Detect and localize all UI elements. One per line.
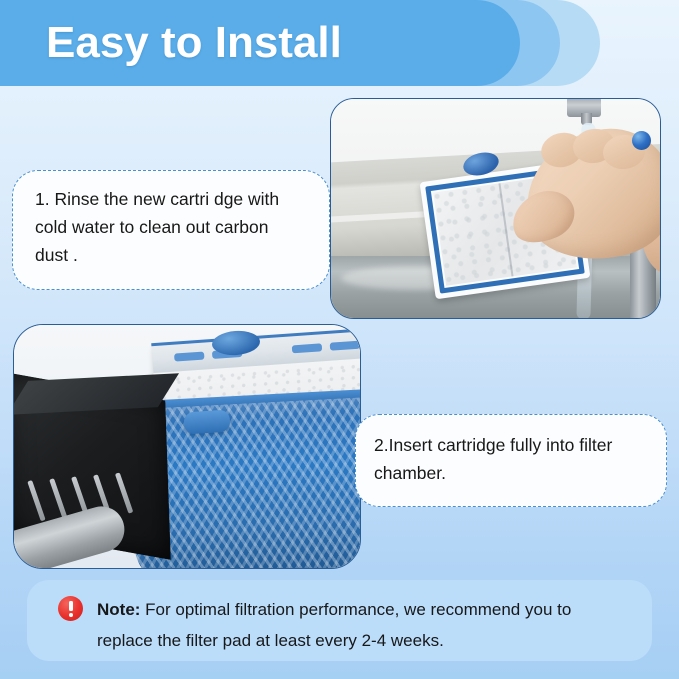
rail-slot-3 [292, 343, 322, 353]
blue-accent-dot-icon [632, 131, 651, 150]
step-1-text: 1. Rinse the new cartri dge with cold wa… [35, 185, 319, 269]
exclamation-circle-icon [58, 596, 83, 621]
photo-rinse-cartridge [330, 98, 661, 319]
step-1-callout: 1. Rinse the new cartri dge with cold wa… [12, 170, 330, 290]
note-bar: Note: For optimal filtration performance… [27, 580, 652, 661]
comb-tooth-2 [49, 478, 67, 519]
page-title: Easy to Install [46, 10, 342, 76]
step-2-text: 2.Insert cartridge fully into filter cha… [374, 431, 652, 487]
step-2-callout: 2.Insert cartridge fully into filter cha… [355, 414, 667, 507]
basket-clip [183, 409, 230, 434]
note-label: Note: [97, 600, 140, 619]
rail-slot-4 [330, 341, 360, 351]
comb-tooth-5 [115, 472, 133, 513]
note-body: For optimal filtration performance, we r… [97, 600, 571, 650]
photo-insert-cartridge [13, 324, 361, 569]
note-text: Note: For optimal filtration performance… [97, 594, 630, 656]
infographic-page: Easy to Install 1. Rinse the new cartri … [0, 0, 679, 679]
rail-slot-1 [174, 352, 204, 362]
